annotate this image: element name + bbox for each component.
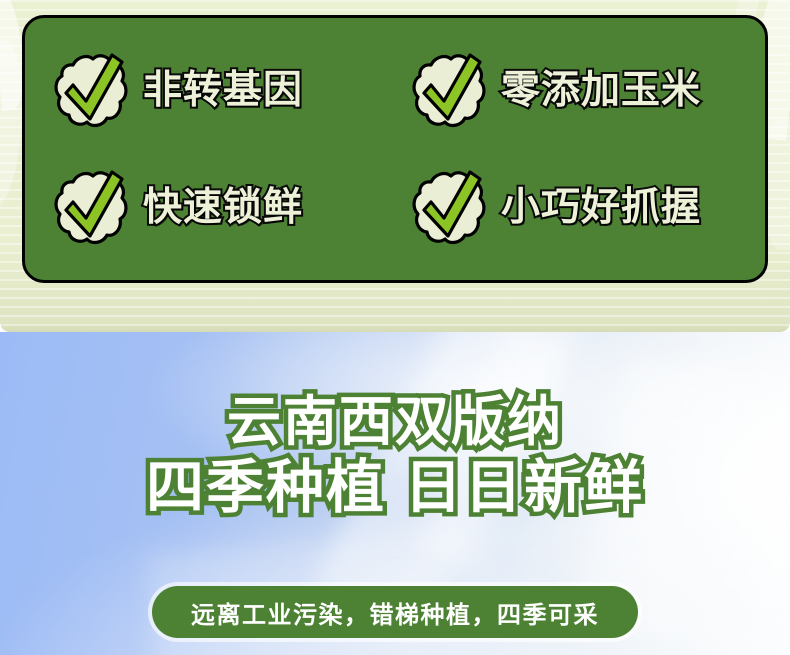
feature-item-no-additive-corn: 零添加玉米 [401,51,749,131]
check-badge-icon [53,51,129,131]
feature-item-compact-grip: 小巧好抓握 [401,168,749,248]
feature-item-non-gmo: 非转基因 [53,51,401,131]
feature-label: 零添加玉米 [501,71,701,110]
check-badge-icon [411,168,487,248]
feature-card: 非转基因 零添加玉米 [22,15,768,283]
tagline-pill: 远离工业污染，错梯种植，四季可采 [152,586,638,638]
feature-item-fast-freshness-lock: 快速锁鲜 [53,168,401,248]
check-badge-icon [53,168,129,248]
feature-label: 非转基因 [143,71,303,110]
features-section: 非转基因 零添加玉米 [0,0,790,332]
feature-label: 小巧好抓握 [501,188,701,227]
tagline-text: 远离工业污染，错梯种植，四季可采 [191,595,599,630]
hero-headline-line-2: 四季种植 日日新鲜 [0,457,790,518]
check-badge-icon [411,51,487,131]
hero-headline-line-1: 云南西双版纳 [0,394,790,451]
product-detail-page: 非转基因 零添加玉米 [0,0,790,655]
hero-headline-block: 云南西双版纳 四季种植 日日新鲜 [0,394,790,519]
feature-label: 快速锁鲜 [143,188,303,227]
feature-grid: 非转基因 零添加玉米 [25,18,765,280]
